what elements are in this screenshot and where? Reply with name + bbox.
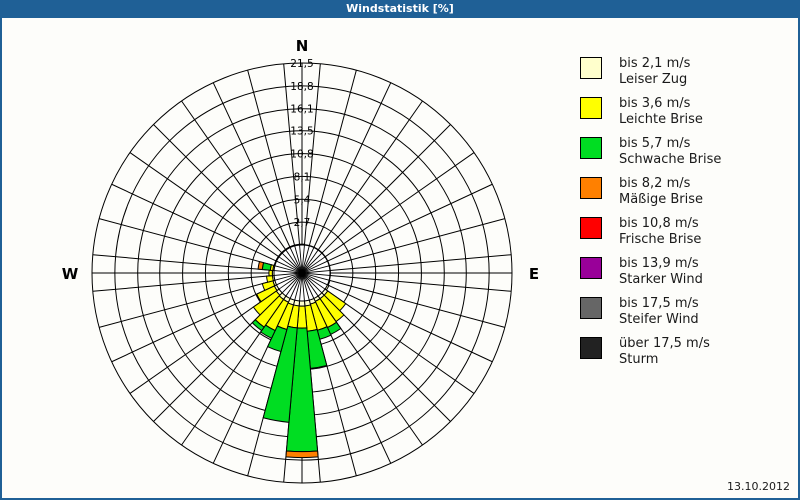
legend-item: bis 2,1 m/sLeiser Zug bbox=[580, 56, 795, 87]
legend-item: bis 5,7 m/sSchwache Brise bbox=[580, 136, 795, 167]
legend: bis 2,1 m/sLeiser Zugbis 3,6 m/sLeichte … bbox=[580, 56, 795, 376]
window-titlebar: Windstatistik [%] bbox=[2, 0, 798, 18]
legend-category-name: Leiser Zug bbox=[619, 72, 690, 88]
legend-color-swatch bbox=[580, 297, 602, 319]
legend-color-swatch bbox=[580, 177, 602, 199]
legend-label: bis 17,5 m/sSteifer Wind bbox=[619, 296, 699, 327]
legend-color-swatch bbox=[580, 57, 602, 79]
legend-item: bis 8,2 m/sMäßige Brise bbox=[580, 176, 795, 207]
legend-category-name: Mäßige Brise bbox=[619, 192, 703, 208]
legend-color-swatch bbox=[580, 337, 602, 359]
legend-item: über 17,5 m/sSturm bbox=[580, 336, 795, 367]
legend-label: bis 5,7 m/sSchwache Brise bbox=[619, 136, 721, 167]
legend-label: bis 8,2 m/sMäßige Brise bbox=[619, 176, 703, 207]
legend-label: bis 3,6 m/sLeichte Brise bbox=[619, 96, 703, 127]
legend-category-name: Schwache Brise bbox=[619, 152, 721, 168]
legend-category-name: Steifer Wind bbox=[619, 312, 699, 328]
radial-tick-label: 5,4 bbox=[294, 194, 311, 206]
legend-speed-range: bis 3,6 m/s bbox=[619, 96, 703, 112]
rose-hub bbox=[274, 245, 330, 301]
legend-category-name: Frische Brise bbox=[619, 232, 701, 248]
legend-label: über 17,5 m/sSturm bbox=[619, 336, 710, 367]
legend-item: bis 13,9 m/sStarker Wind bbox=[580, 256, 795, 287]
radial-tick-label: 21,5 bbox=[290, 58, 313, 70]
legend-item: bis 10,8 m/sFrische Brise bbox=[580, 216, 795, 247]
radial-tick-label: 16,1 bbox=[290, 104, 313, 116]
grid-spoke bbox=[99, 219, 275, 266]
grid-spoke bbox=[248, 70, 295, 246]
legend-speed-range: bis 17,5 m/s bbox=[619, 296, 699, 312]
legend-label: bis 2,1 m/sLeiser Zug bbox=[619, 56, 690, 87]
legend-item: bis 3,6 m/sLeichte Brise bbox=[580, 96, 795, 127]
legend-label: bis 10,8 m/sFrische Brise bbox=[619, 216, 701, 247]
legend-speed-range: bis 5,7 m/s bbox=[619, 136, 721, 152]
compass-label-west: W bbox=[62, 265, 79, 283]
legend-speed-range: bis 13,9 m/s bbox=[619, 256, 703, 272]
rose-petal-segment bbox=[267, 276, 274, 283]
legend-category-name: Starker Wind bbox=[619, 272, 703, 288]
legend-speed-range: bis 8,2 m/s bbox=[619, 176, 703, 192]
compass-label-north: N bbox=[296, 37, 309, 55]
legend-color-swatch bbox=[580, 137, 602, 159]
legend-label: bis 13,9 m/sStarker Wind bbox=[619, 256, 703, 287]
legend-speed-range: bis 2,1 m/s bbox=[619, 56, 690, 72]
radial-tick-label: 13,5 bbox=[290, 126, 313, 138]
grid-spoke bbox=[329, 280, 505, 327]
grid-spoke bbox=[309, 70, 356, 246]
wind-rose-svg: 2,75,48,110,813,516,118,821,5 NESW bbox=[2, 18, 562, 496]
radial-tick-label: 18,8 bbox=[290, 81, 313, 93]
date-stamp: 13.10.2012 bbox=[727, 480, 790, 493]
grid-spoke bbox=[99, 280, 275, 327]
legend-category-name: Leichte Brise bbox=[619, 112, 703, 128]
radial-tick-label: 10,8 bbox=[290, 149, 313, 161]
grid-spoke bbox=[329, 219, 505, 266]
compass-label-east: E bbox=[529, 265, 539, 283]
legend-category-name: Sturm bbox=[619, 352, 710, 368]
legend-item: bis 17,5 m/sSteifer Wind bbox=[580, 296, 795, 327]
wind-rose-chart: 2,75,48,110,813,516,118,821,5 NESW bbox=[2, 18, 562, 496]
window-content: 2,75,48,110,813,516,118,821,5 NESW bis 2… bbox=[2, 18, 798, 496]
legend-speed-range: bis 10,8 m/s bbox=[619, 216, 701, 232]
rose-petal-segment bbox=[269, 270, 272, 276]
compass-label-south: S bbox=[297, 493, 308, 496]
legend-color-swatch bbox=[580, 257, 602, 279]
legend-color-swatch bbox=[580, 97, 602, 119]
windstatistik-window: Windstatistik [%] 2,75,48,110,813,516,11… bbox=[0, 0, 800, 500]
rose-petal-segment bbox=[286, 451, 318, 458]
radial-tick-label: 8,1 bbox=[294, 171, 311, 183]
radial-tick-label: 2,7 bbox=[294, 217, 311, 229]
legend-color-swatch bbox=[580, 217, 602, 239]
legend-speed-range: über 17,5 m/s bbox=[619, 336, 710, 352]
window-title: Windstatistik [%] bbox=[346, 2, 454, 15]
rose-petal-segment bbox=[258, 262, 263, 270]
